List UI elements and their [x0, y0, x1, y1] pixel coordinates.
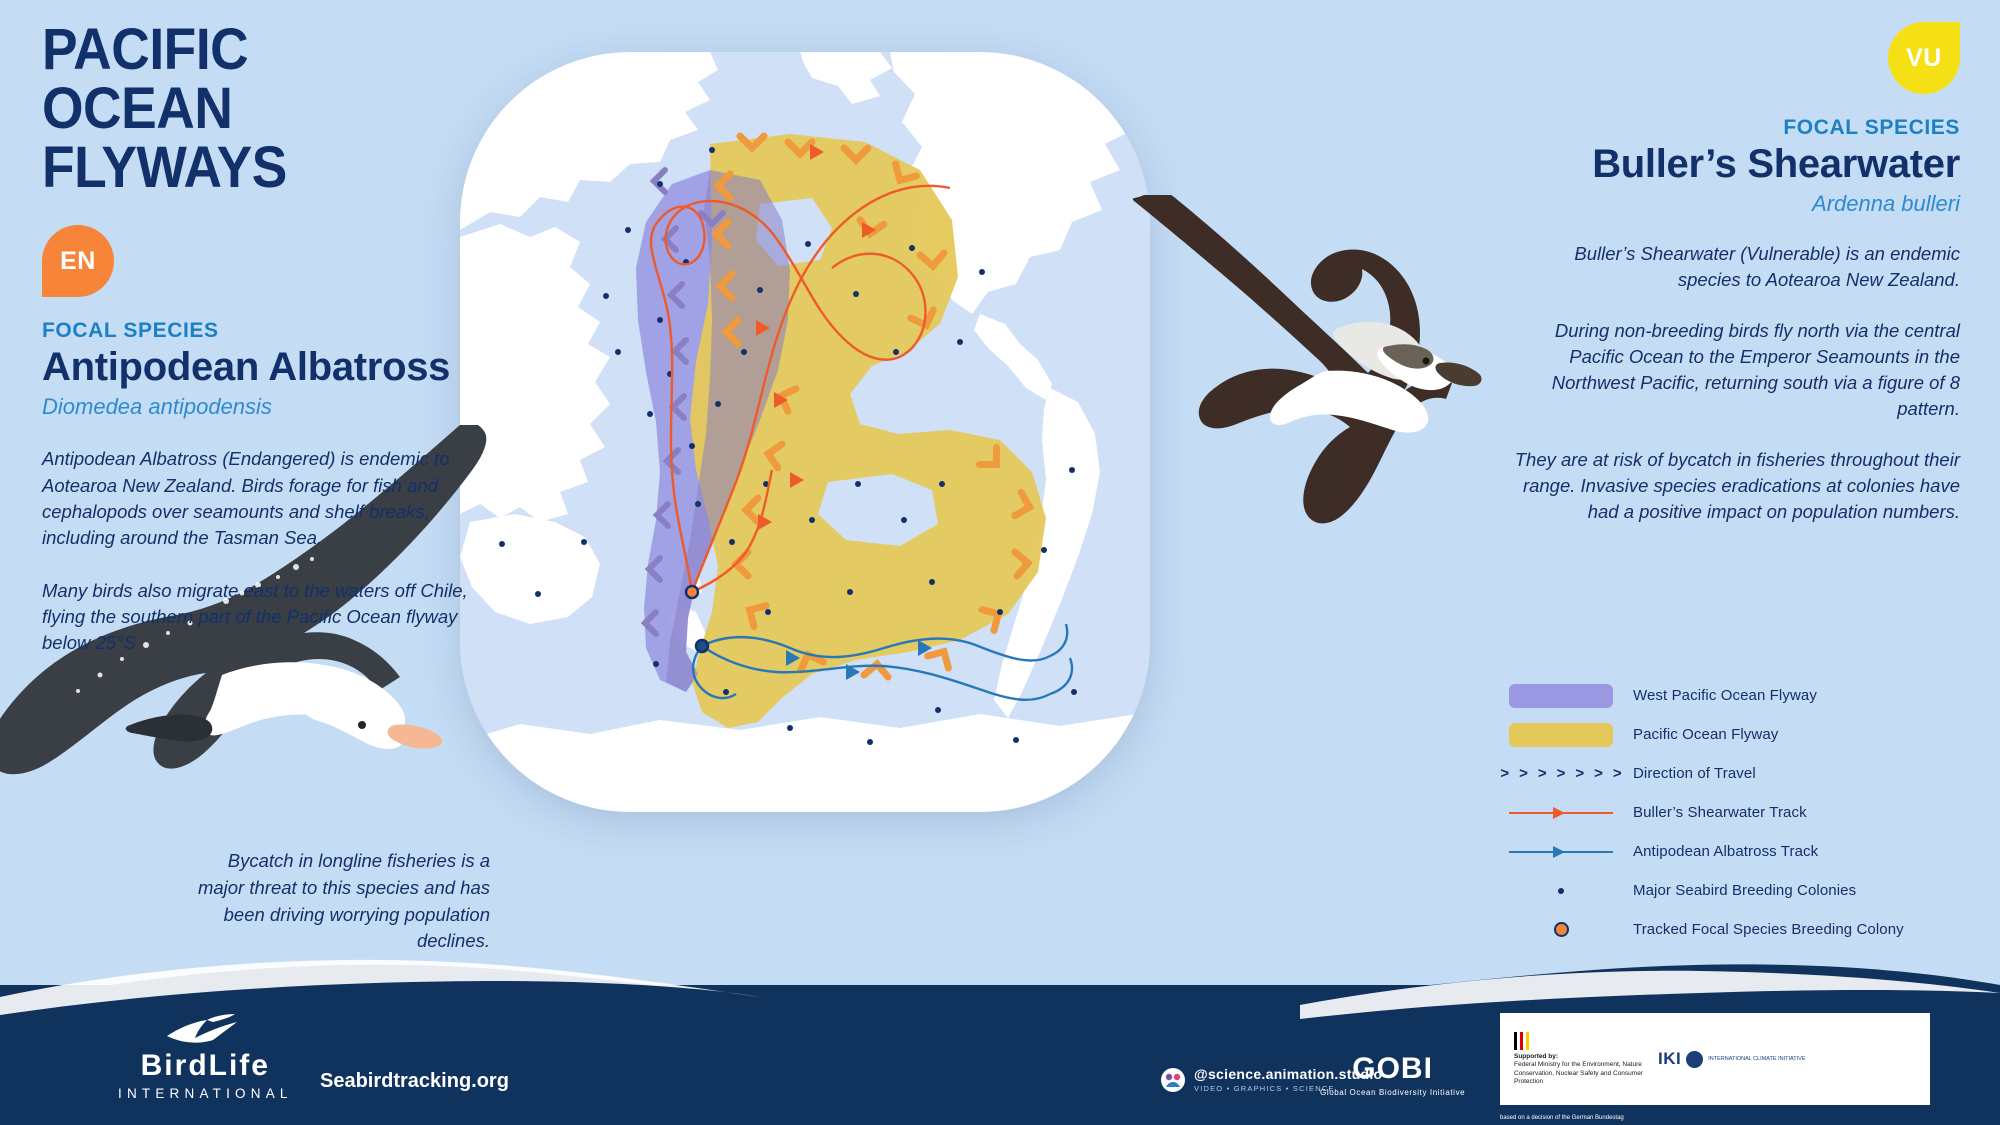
iki-subtitle: INTERNATIONAL CLIMATE INITIATIVE	[1708, 1056, 1805, 1063]
chevron-right-icon: >	[1500, 765, 1509, 782]
chevron-right-icon: >	[1519, 765, 1528, 782]
birdlife-logo[interactable]: BirdLife INTERNATIONAL	[118, 1012, 293, 1101]
funder-logos-box: Supported by: Federal Ministry for the E…	[1500, 1013, 1930, 1105]
swatch-west-pacific-flyway	[1509, 684, 1613, 708]
right-species-panel: VU FOCAL SPECIES Buller’s Shearwater Ard…	[1510, 22, 1960, 525]
shearwater-paragraph-1: Buller’s Shearwater (Vulnerable) is an e…	[1510, 241, 1960, 294]
footer-logo-bar: BirdLife INTERNATIONAL Seabirdtracking.o…	[0, 985, 2000, 1125]
shearwater-eye	[1423, 358, 1430, 365]
shearwater-paragraph-3: They are at risk of bycatch in fisheries…	[1510, 447, 1960, 526]
globe-icon	[1686, 1051, 1703, 1068]
chevron-right-icon: >	[1538, 765, 1547, 782]
poster-root: PACIFIC OCEAN FLYWAYS EN FOCAL SPECIES A…	[0, 0, 2000, 1125]
gobi-subtitle: Global Ocean Biodiversity Initiative	[1320, 1088, 1465, 1097]
legend-item-direction-of-travel[interactable]: > > > > > > > Direction of Travel	[1505, 754, 1960, 793]
legend-key	[1505, 922, 1617, 937]
bundestag-note: based on a decision of the German Bundes…	[1500, 1115, 1624, 1121]
page-title-line1: PACIFIC OCEAN	[42, 20, 438, 138]
supported-by-label: Supported by:	[1514, 1053, 1644, 1061]
iki-logo: IKI INTERNATIONAL CLIMATE INITIATIVE	[1658, 1049, 1806, 1069]
bullers-shearwater-illustration	[1130, 195, 1570, 555]
legend-label-breeding-colonies: Major Seabird Breeding Colonies	[1633, 882, 1856, 899]
map-card	[460, 52, 1150, 812]
ringed-dot-icon	[1554, 922, 1569, 937]
legend-label-direction-of-travel: Direction of Travel	[1633, 765, 1756, 782]
status-badge-en-label: EN	[60, 247, 96, 276]
map-legend: West Pacific Ocean Flyway Pacific Ocean …	[1505, 676, 1960, 949]
page-title-line2: FLYWAYS	[42, 138, 438, 197]
ministry-text: Supported by: Federal Ministry for the E…	[1514, 1053, 1644, 1087]
legend-label-albatross-track: Antipodean Albatross Track	[1633, 843, 1818, 860]
legend-label-focal-colony: Tracked Focal Species Breeding Colony	[1633, 921, 1904, 938]
legend-item-pacific-flyway[interactable]: Pacific Ocean Flyway	[1505, 715, 1960, 754]
legend-item-breeding-colonies[interactable]: Major Seabird Breeding Colonies	[1505, 871, 1960, 910]
bird-icon	[163, 1012, 247, 1046]
chevron-right-icon: >	[1557, 765, 1566, 782]
chevron-right-icon: >	[1575, 765, 1584, 782]
albatross-tail	[126, 714, 213, 741]
focal-species-label-right: FOCAL SPECIES	[1510, 116, 1960, 140]
track-arrow-icon-shearwater	[1509, 807, 1613, 819]
page-title: PACIFIC OCEAN FLYWAYS	[42, 20, 438, 197]
status-badge-vu-label: VU	[1906, 44, 1942, 73]
status-badge-en: EN	[42, 225, 114, 297]
species-latin-albatross: Diomedea antipodensis	[42, 394, 472, 420]
focal-colony-shearwater	[686, 586, 698, 598]
legend-key	[1505, 807, 1617, 819]
map-graphic	[460, 52, 1150, 812]
species-latin-shearwater: Ardenna bulleri	[1510, 191, 1960, 217]
albatross-paragraph-2: Many birds also migrate east to the wate…	[42, 578, 472, 657]
legend-key	[1505, 684, 1617, 708]
albatross-eye	[358, 721, 366, 729]
legend-label-west-pacific-flyway: West Pacific Ocean Flyway	[1633, 687, 1817, 704]
legend-item-focal-colony[interactable]: Tracked Focal Species Breeding Colony	[1505, 910, 1960, 949]
species-name-shearwater: Buller’s Shearwater	[1510, 143, 1960, 185]
iki-wordmark: IKI	[1658, 1049, 1681, 1069]
german-flag-icon	[1514, 1032, 1644, 1050]
swatch-pacific-flyway	[1509, 723, 1613, 747]
shearwater-paragraph-2: During non-breeding birds fly north via …	[1510, 318, 1960, 423]
chevron-right-icon: >	[1613, 765, 1622, 782]
track-arrow-icon-albatross	[1509, 846, 1613, 858]
birdlife-subtitle: INTERNATIONAL	[118, 1086, 293, 1101]
legend-key	[1505, 846, 1617, 858]
small-dot-icon	[1558, 888, 1564, 894]
chevron-icon-group: > > > > > > >	[1500, 765, 1621, 782]
birdlife-wordmark: BirdLife	[118, 1051, 293, 1081]
status-badge-vu: VU	[1888, 22, 1960, 94]
legend-key: > > > > > > >	[1505, 765, 1617, 782]
legend-item-albatross-track[interactable]: Antipodean Albatross Track	[1505, 832, 1960, 871]
legend-key	[1505, 888, 1617, 894]
ministry-name: Federal Ministry for the Environment, Na…	[1514, 1061, 1643, 1085]
seabirdtracking-link[interactable]: Seabirdtracking.org	[320, 1070, 509, 1093]
legend-item-west-pacific-flyway[interactable]: West Pacific Ocean Flyway	[1505, 676, 1960, 715]
legend-label-pacific-flyway: Pacific Ocean Flyway	[1633, 726, 1778, 743]
german-ministry-logo: Supported by: Federal Ministry for the E…	[1514, 1032, 1644, 1087]
legend-key	[1505, 723, 1617, 747]
studio-mark-icon	[1160, 1067, 1186, 1093]
gobi-logo[interactable]: GOBI Global Ocean Biodiversity Initiativ…	[1320, 1054, 1465, 1097]
focal-colony-albatross	[696, 640, 708, 652]
species-name-albatross: Antipodean Albatross	[42, 346, 472, 388]
albatross-paragraph-1: Antipodean Albatross (Endangered) is end…	[42, 446, 472, 551]
chevron-right-icon: >	[1594, 765, 1603, 782]
gobi-wordmark: GOBI	[1320, 1054, 1465, 1084]
albatross-bycatch-note: Bycatch in longline fisheries is a major…	[190, 848, 490, 955]
legend-label-shearwater-track: Buller’s Shearwater Track	[1633, 804, 1807, 821]
legend-item-shearwater-track[interactable]: Buller’s Shearwater Track	[1505, 793, 1960, 832]
map-container[interactable]	[460, 52, 1150, 812]
focal-species-label-left: FOCAL SPECIES	[42, 319, 472, 343]
left-species-panel: PACIFIC OCEAN FLYWAYS EN FOCAL SPECIES A…	[42, 20, 472, 656]
